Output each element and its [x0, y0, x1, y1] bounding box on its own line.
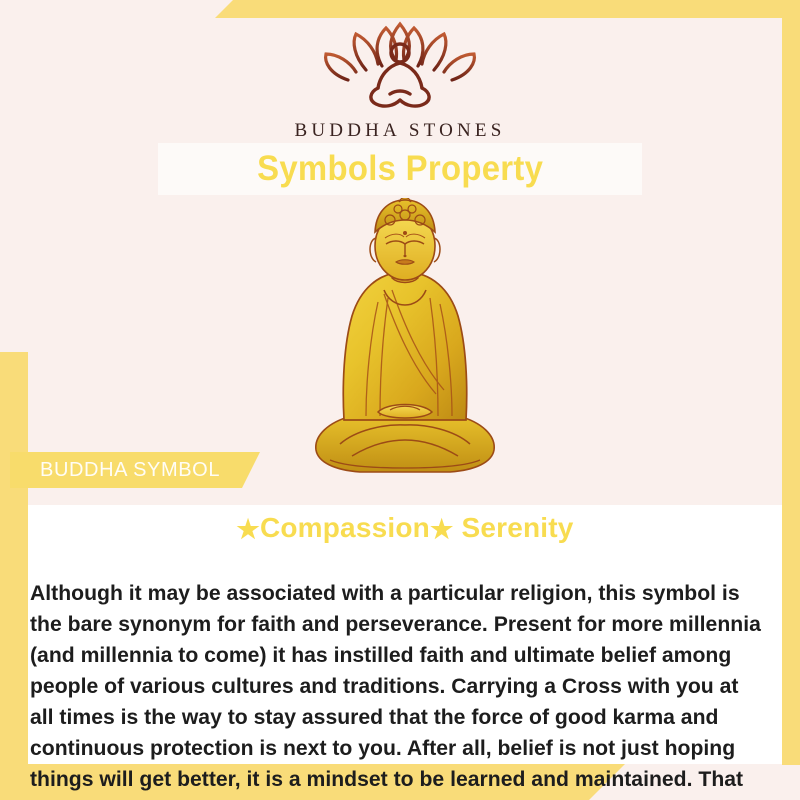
virtue-compassion: Compassion [260, 512, 430, 543]
frame-left-bar [0, 352, 28, 765]
lotus-meditation-figure-icon [0, 18, 800, 118]
virtues-heading: ★Compassion★ Serenity [28, 512, 782, 545]
page-title: Symbols Property [257, 149, 543, 189]
poster-root: BUDDHA STONES Symbols Property [0, 0, 800, 800]
virtue-serenity: Serenity [461, 512, 573, 543]
ribbon-label: BUDDHA SYMBOL [10, 459, 220, 482]
star-icon-left: ★ [236, 514, 260, 544]
seated-golden-buddha-statue-icon [300, 198, 510, 488]
frame-top-bar [215, 0, 800, 18]
brand-wordmark: BUDDHA STONES [0, 120, 800, 142]
buddha-symbol-ribbon: BUDDHA SYMBOL [10, 452, 260, 488]
star-icon-right: ★ [430, 514, 454, 544]
brand-logo-block: BUDDHA STONES [0, 18, 800, 142]
page-title-band: Symbols Property [158, 143, 642, 195]
description-paragraph: Although it may be associated with a par… [30, 578, 761, 800]
